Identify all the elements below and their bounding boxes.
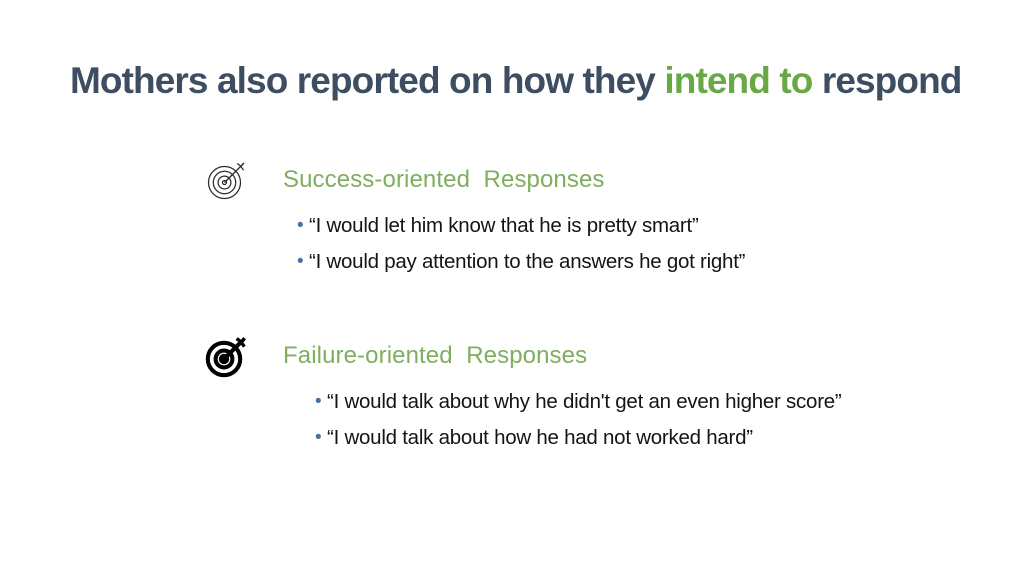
content-group-failure: Failure-oriented Responses •“I would tal…: [0, 331, 1024, 387]
bullet-marker-icon: •: [297, 247, 309, 277]
group-header-success: Success-oriented Responses: [0, 155, 1024, 211]
bullet-text: “I would pay attention to the answers he…: [309, 247, 745, 277]
title-text-before-accent: Mothers also reported on how they: [70, 60, 664, 101]
content-group-success: Success-oriented Responses •“I would let…: [0, 155, 1024, 211]
page-title: Mothers also reported on how they intend…: [70, 58, 970, 104]
bullet-list-failure: •“I would talk about why he didn't get a…: [0, 387, 1024, 459]
target-arrow-solid-icon: [201, 331, 251, 381]
title-accent-text: intend to: [664, 60, 812, 101]
bullet-marker-icon: •: [315, 423, 327, 453]
bullet-marker-icon: •: [297, 211, 309, 241]
title-text-after-accent: respond: [812, 60, 961, 101]
bullet-marker-icon: •: [315, 387, 327, 417]
list-item: •“I would pay attention to the answers h…: [0, 247, 1024, 283]
group-title-failure: Failure-oriented Responses: [283, 341, 587, 371]
target-arrow-outline-icon: [201, 155, 251, 205]
list-item: •“I would let him know that he is pretty…: [0, 211, 1024, 247]
list-item: •“I would talk about how he had not work…: [0, 423, 1024, 459]
bullet-text: “I would talk about how he had not worke…: [327, 423, 753, 453]
group-header-failure: Failure-oriented Responses: [0, 331, 1024, 387]
list-item: •“I would talk about why he didn't get a…: [0, 387, 1024, 423]
bullet-text: “I would talk about why he didn't get an…: [327, 387, 842, 417]
slide-canvas: Mothers also reported on how they intend…: [0, 0, 1024, 576]
bullet-text: “I would let him know that he is pretty …: [309, 211, 699, 241]
group-title-success: Success-oriented Responses: [283, 165, 605, 195]
bullet-list-success: •“I would let him know that he is pretty…: [0, 211, 1024, 283]
